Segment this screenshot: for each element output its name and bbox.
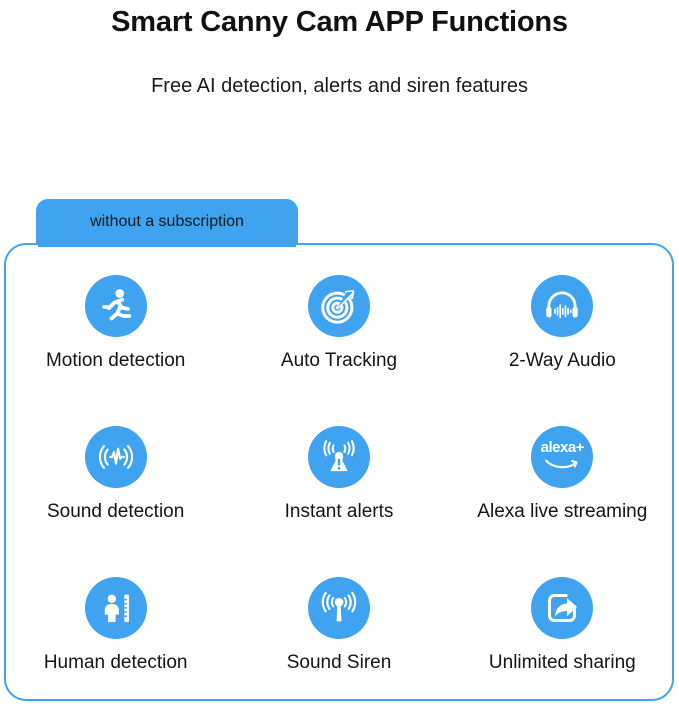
app-functions-infographic: Smart Canny Cam APP Functions Free AI de… — [0, 0, 679, 711]
headphones-waveform-icon — [531, 275, 593, 337]
siren-antenna-waves-icon — [308, 577, 370, 639]
running-person-icon — [85, 275, 147, 337]
alert-siren-exclamation-icon — [308, 426, 370, 488]
feature-cell-motion-detection: Motion detection — [4, 249, 227, 400]
feature-label: Instant alerts — [285, 500, 394, 524]
subscription-tab: without a subscription — [36, 199, 298, 245]
share-arrow-icon — [531, 577, 593, 639]
feature-label: Alexa live streaming — [477, 500, 647, 524]
alexa-wordmark: alexa+ — [541, 441, 584, 455]
target-bullseye-arrow-icon — [308, 275, 370, 337]
feature-cell-instant-alerts: Instant alerts — [227, 400, 450, 551]
feature-label: Auto Tracking — [281, 349, 397, 373]
feature-cell-auto-tracking: Auto Tracking — [227, 249, 450, 400]
header: Smart Canny Cam APP Functions Free AI de… — [0, 0, 679, 100]
feature-label: Human detection — [44, 651, 188, 675]
feature-cell-unlimited-sharing: Unlimited sharing — [451, 550, 674, 701]
alexa-plus-icon: alexa+ — [531, 426, 593, 488]
feature-label: Sound detection — [47, 500, 184, 524]
feature-label: Sound Siren — [287, 651, 392, 675]
feature-label: Motion detection — [46, 349, 185, 373]
feature-cell-sound-siren: Sound Siren — [227, 550, 450, 701]
feature-cell-human-detection: Human detection — [4, 550, 227, 701]
feature-label: 2-Way Audio — [509, 349, 616, 373]
tab-card-joint — [38, 241, 296, 247]
feature-cell-2-way-audio: 2-Way Audio — [451, 249, 674, 400]
feature-cell-sound-detection: Sound detection — [4, 400, 227, 551]
feature-cell-alexa-live-streaming: alexa+ Alexa live streaming — [451, 400, 674, 551]
page-title: Smart Canny Cam APP Functions — [0, 2, 679, 42]
subscription-tab-label: without a subscription — [90, 212, 244, 232]
page-subtitle: Free AI detection, alerts and siren feat… — [0, 42, 679, 100]
sound-waveform-arcs-icon — [85, 426, 147, 488]
feature-label: Unlimited sharing — [489, 651, 636, 675]
person-height-ruler-icon — [85, 577, 147, 639]
features-grid: Motion detection Auto Tracking — [4, 243, 674, 701]
